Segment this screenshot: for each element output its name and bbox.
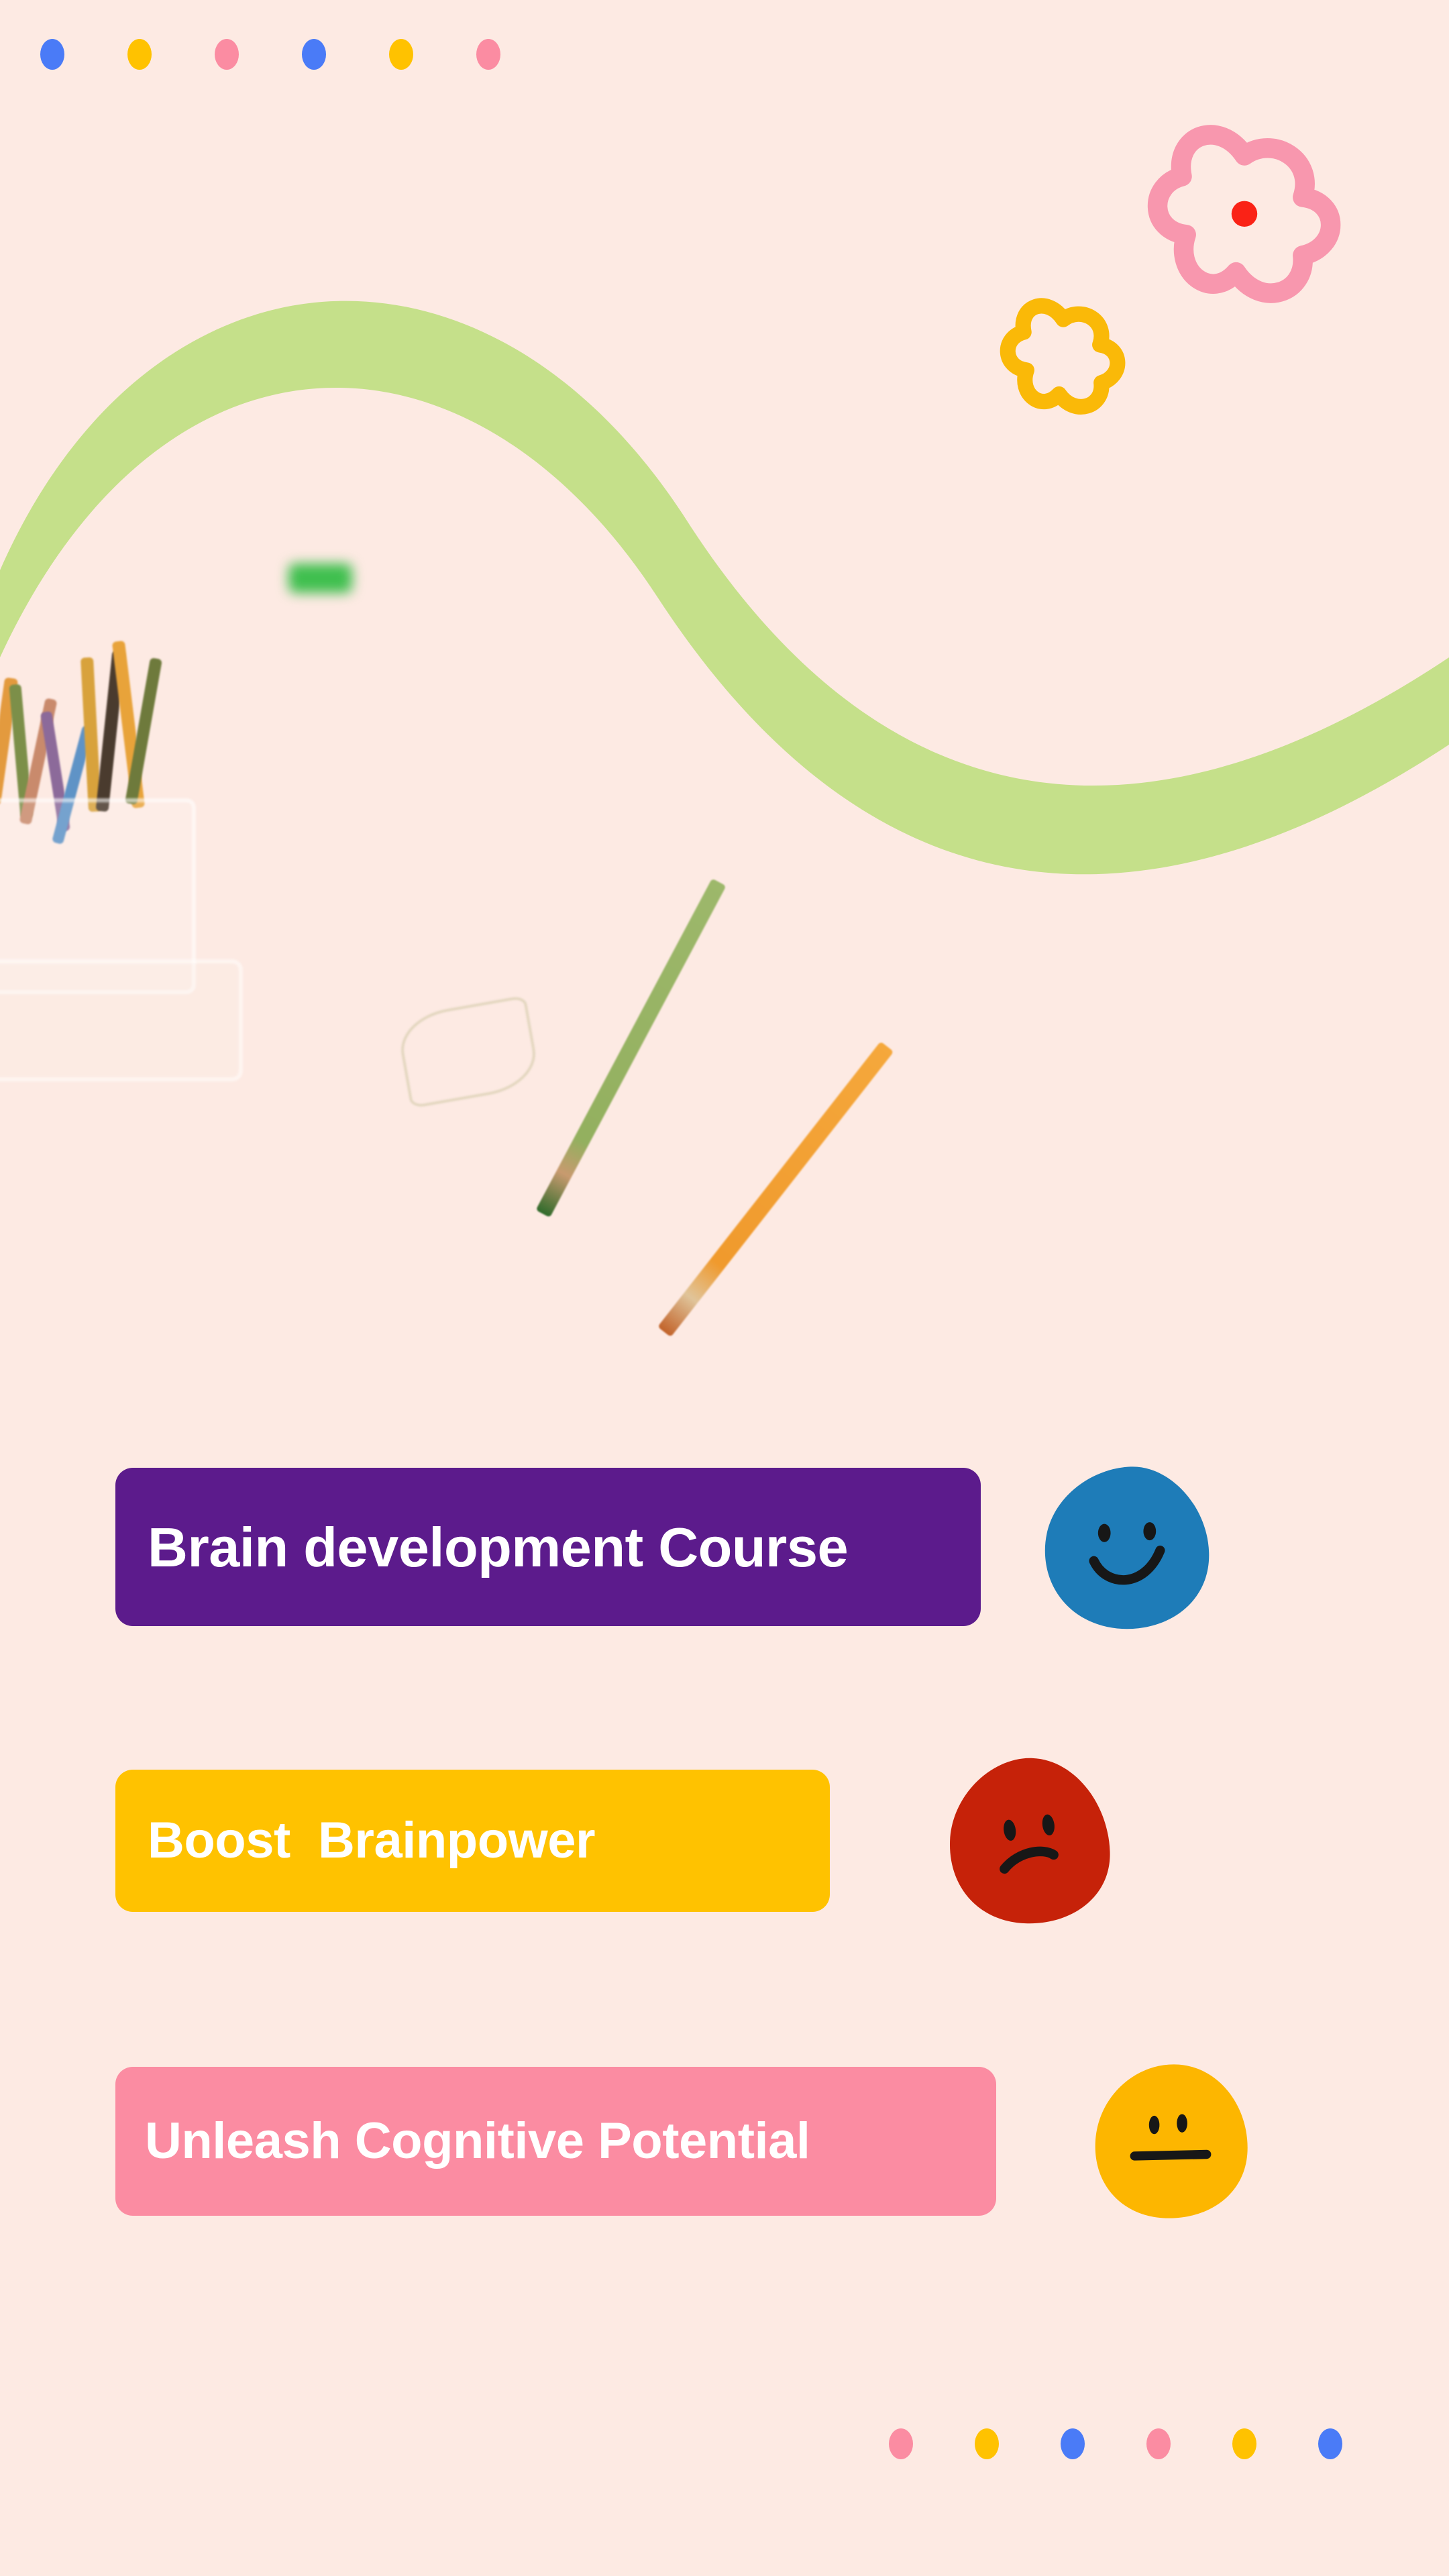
dot-pink-4 xyxy=(1146,2428,1171,2459)
dot-pink-2 xyxy=(476,39,500,70)
pencil-holder-tray xyxy=(0,959,243,1081)
hero-photo-details xyxy=(0,282,1449,1362)
eye-left xyxy=(1098,1524,1111,1542)
smiley-happy-icon xyxy=(1033,1460,1221,1634)
dot-blue-4 xyxy=(1318,2428,1342,2459)
emoji-neutral-yellow[interactable] xyxy=(1083,2059,1258,2223)
mouth-neutral xyxy=(1134,2155,1206,2156)
emoji-sad-red[interactable] xyxy=(941,1751,1117,1931)
dot-yellow-4 xyxy=(1232,2428,1256,2459)
dot-yellow-1 xyxy=(127,39,152,70)
dot-blue-2 xyxy=(302,39,326,70)
unleash-cognitive-potential-button[interactable]: Unleash Cognitive Potential xyxy=(115,2067,996,2216)
hero-photo-clip xyxy=(0,282,1449,1362)
dot-pink-3 xyxy=(889,2428,913,2459)
feature-row-2: Boost Brainpower xyxy=(115,1751,1117,1931)
top-dot-row xyxy=(40,39,500,70)
feature-row-1: Brain development Course xyxy=(115,1460,1221,1634)
emoji-happy-blue[interactable] xyxy=(1033,1460,1221,1634)
orange-pencil xyxy=(657,1041,894,1337)
dot-blue-3 xyxy=(1061,2428,1085,2459)
brain-development-course-button[interactable]: Brain development Course xyxy=(115,1468,981,1626)
smiley-neutral-icon xyxy=(1083,2059,1258,2223)
hero-photo xyxy=(0,282,1449,1362)
bottom-dot-row xyxy=(889,2428,1404,2459)
green-eraser xyxy=(288,563,352,593)
dot-blue-1 xyxy=(40,39,64,70)
feature-row-3: Unleash Cognitive Potential xyxy=(115,2059,1258,2223)
boost-brainpower-button[interactable]: Boost Brainpower xyxy=(115,1770,830,1912)
flower-center-dot xyxy=(1232,201,1257,227)
eye-right xyxy=(1143,1522,1156,1540)
dot-yellow-3 xyxy=(975,2428,999,2459)
smiley-sad-icon xyxy=(941,1751,1117,1931)
dot-yellow-2 xyxy=(389,39,413,70)
green-pencil xyxy=(536,878,727,1218)
dot-pink-1 xyxy=(215,39,239,70)
paper-sketch xyxy=(396,996,541,1108)
eye-left xyxy=(1149,2116,1160,2134)
eye-right xyxy=(1177,2114,1187,2132)
